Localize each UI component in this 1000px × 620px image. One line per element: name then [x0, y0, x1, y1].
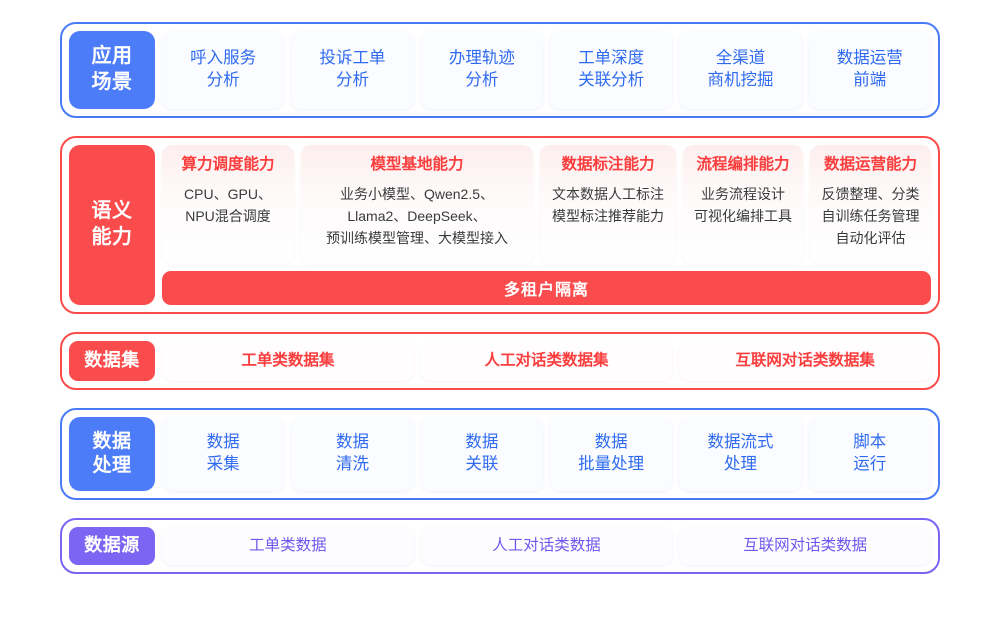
dataset-card-human-dialogue[interactable]: 人工对话类数据集 — [421, 341, 673, 381]
row-datasets: 数据集 工单类数据集 人工对话类数据集 互联网对话类数据集 — [60, 332, 940, 390]
sem-card-model-base[interactable]: 模型基地能力 业务小模型、Qwen2.5、 Llama2、DeepSeek、 预… — [301, 145, 533, 264]
label-line-2: 处理 — [92, 455, 131, 476]
card-body: CPU、GPU、 NPU混合调度 — [184, 184, 272, 227]
card-line-1: 数据运营 — [837, 48, 903, 70]
card-body: 业务小模型、Qwen2.5、 Llama2、DeepSeek、 预训练模型管理、… — [326, 184, 508, 249]
body-line-1: 业务流程设计 — [694, 184, 792, 206]
card-line-2: 关联 — [465, 454, 498, 476]
architecture-diagram: 应用 场景 呼入服务 分析 投诉工单 分析 办理轨迹 分析 工单深度 关联分析 — [0, 0, 1000, 620]
card-line-2: 处理 — [724, 454, 757, 476]
card-line-2: 清洗 — [336, 454, 369, 476]
card-line-2: 批量处理 — [578, 454, 644, 476]
card-line-1: 投诉工单 — [319, 48, 385, 70]
semantic-capability-cards: 算力调度能力 CPU、GPU、 NPU混合调度 模型基地能力 业务小模型、Qwe… — [162, 145, 931, 264]
row-application-scenarios: 应用 场景 呼入服务 分析 投诉工单 分析 办理轨迹 分析 工单深度 关联分析 — [60, 22, 940, 118]
app-card-data-operations-frontend[interactable]: 数据运营 前端 — [809, 31, 931, 109]
dp-card-data-correlation[interactable]: 数据 关联 — [421, 417, 543, 491]
body-line-3: 自动化评估 — [822, 228, 920, 250]
card-title: 数据标注能力 — [561, 155, 654, 175]
dp-card-data-collection[interactable]: 数据 采集 — [162, 417, 284, 491]
card-line-1: 数据 — [595, 432, 628, 454]
dataset-cards: 工单类数据集 人工对话类数据集 互联网对话类数据集 — [162, 341, 931, 381]
dp-card-data-stream-processing[interactable]: 数据流式 处理 — [679, 417, 801, 491]
source-card-ticket-data[interactable]: 工单类数据 — [162, 527, 414, 565]
sem-card-compute-scheduling[interactable]: 算力调度能力 CPU、GPU、 NPU混合调度 — [162, 145, 294, 264]
card-line-2: 前端 — [853, 70, 886, 92]
data-processing-cards: 数据 采集 数据 清洗 数据 关联 数据 批量处理 数据流式 处理 脚本 运行 — [162, 417, 931, 491]
body-line-2: 自训练任务管理 — [822, 206, 920, 228]
card-line-1: 办理轨迹 — [449, 48, 515, 70]
body-line-2: 可视化编排工具 — [694, 206, 792, 228]
card-line-2: 采集 — [207, 454, 240, 476]
row-data-sources: 数据源 工单类数据 人工对话类数据 互联网对话类数据 — [60, 518, 940, 574]
source-card-human-dialogue-data[interactable]: 人工对话类数据 — [421, 527, 673, 565]
row-semantic-capability: 语义 能力 算力调度能力 CPU、GPU、 NPU混合调度 模型基地能力 业务小… — [60, 136, 940, 314]
card-line-2: 运行 — [853, 454, 886, 476]
card-line-2: 分析 — [336, 70, 369, 92]
card-title: 模型基地能力 — [370, 155, 463, 175]
body-line-1: 反馈整理、分类 — [822, 184, 920, 206]
sem-card-data-operations[interactable]: 数据运营能力 反馈整理、分类 自训练任务管理 自动化评估 — [810, 145, 931, 264]
sem-card-process-orchestration[interactable]: 流程编排能力 业务流程设计 可视化编排工具 — [683, 145, 803, 264]
card-line-1: 数据流式 — [707, 432, 773, 454]
card-line-1: 呼入服务 — [190, 48, 256, 70]
dp-card-data-cleaning[interactable]: 数据 清洗 — [291, 417, 413, 491]
card-line-2: 关联分析 — [578, 70, 644, 92]
card-title: 数据运营能力 — [824, 155, 917, 175]
application-scenario-cards: 呼入服务 分析 投诉工单 分析 办理轨迹 分析 工单深度 关联分析 全渠道 商机… — [162, 31, 931, 109]
label-line-2: 场景 — [92, 71, 133, 93]
label-line-2: 能力 — [92, 226, 133, 248]
card-body: 业务流程设计 可视化编排工具 — [694, 184, 792, 227]
card-title: 算力调度能力 — [181, 155, 274, 175]
card-line-1: 工单深度 — [578, 48, 644, 70]
card-line-2: 商机挖掘 — [707, 70, 773, 92]
card-line-1: 数据 — [207, 432, 240, 454]
card-line-1: 数据 — [336, 432, 369, 454]
multi-tenant-isolation-bar: 多租户隔离 — [162, 271, 931, 305]
body-line-2: 模型标注推荐能力 — [552, 206, 664, 228]
source-card-internet-dialogue-data[interactable]: 互联网对话类数据 — [679, 527, 931, 565]
card-line-2: 分析 — [207, 70, 240, 92]
card-line-2: 分析 — [465, 70, 498, 92]
card-line-1: 脚本 — [853, 432, 886, 454]
row-label-application-scenarios: 应用 场景 — [69, 31, 155, 109]
semantic-capability-content: 算力调度能力 CPU、GPU、 NPU混合调度 模型基地能力 业务小模型、Qwe… — [162, 145, 931, 305]
sem-card-data-annotation[interactable]: 数据标注能力 文本数据人工标注 模型标注推荐能力 — [540, 145, 676, 264]
body-line-1: CPU、GPU、 — [184, 184, 272, 206]
body-line-1: 文本数据人工标注 — [552, 184, 664, 206]
dp-card-data-batch-processing[interactable]: 数据 批量处理 — [550, 417, 672, 491]
card-line-1: 数据 — [465, 432, 498, 454]
row-label-data-processing: 数据 处理 — [69, 417, 155, 491]
label-line-1: 数据 — [92, 431, 131, 452]
app-card-inbound-service-analysis[interactable]: 呼入服务 分析 — [162, 31, 284, 109]
app-card-ticket-deep-correlation-analysis[interactable]: 工单深度 关联分析 — [550, 31, 672, 109]
data-source-cards: 工单类数据 人工对话类数据 互联网对话类数据 — [162, 527, 931, 565]
dp-card-script-execution[interactable]: 脚本 运行 — [809, 417, 931, 491]
dataset-card-ticket[interactable]: 工单类数据集 — [162, 341, 414, 381]
body-line-2: Llama2、DeepSeek、 — [326, 206, 508, 228]
body-line-2: NPU混合调度 — [184, 206, 272, 228]
body-line-1: 业务小模型、Qwen2.5、 — [326, 184, 508, 206]
card-body: 反馈整理、分类 自训练任务管理 自动化评估 — [822, 184, 920, 249]
row-label-semantic-capability: 语义 能力 — [69, 145, 155, 305]
body-line-3: 预训练模型管理、大模型接入 — [326, 228, 508, 250]
row-label-data-sources: 数据源 — [69, 527, 155, 565]
app-card-complaint-ticket-analysis[interactable]: 投诉工单 分析 — [291, 31, 413, 109]
label-line-1: 语义 — [92, 200, 133, 222]
card-body: 文本数据人工标注 模型标注推荐能力 — [552, 184, 664, 227]
row-data-processing: 数据 处理 数据 采集 数据 清洗 数据 关联 数据 批量处理 数据流式 — [60, 408, 940, 500]
card-title: 流程编排能力 — [696, 155, 789, 175]
app-card-handling-trace-analysis[interactable]: 办理轨迹 分析 — [421, 31, 543, 109]
app-card-omnichannel-opportunity-mining[interactable]: 全渠道 商机挖掘 — [679, 31, 801, 109]
label-line-1: 应用 — [92, 45, 133, 67]
card-line-1: 全渠道 — [716, 48, 766, 70]
row-label-datasets: 数据集 — [69, 341, 155, 381]
dataset-card-internet-dialogue[interactable]: 互联网对话类数据集 — [679, 341, 931, 381]
